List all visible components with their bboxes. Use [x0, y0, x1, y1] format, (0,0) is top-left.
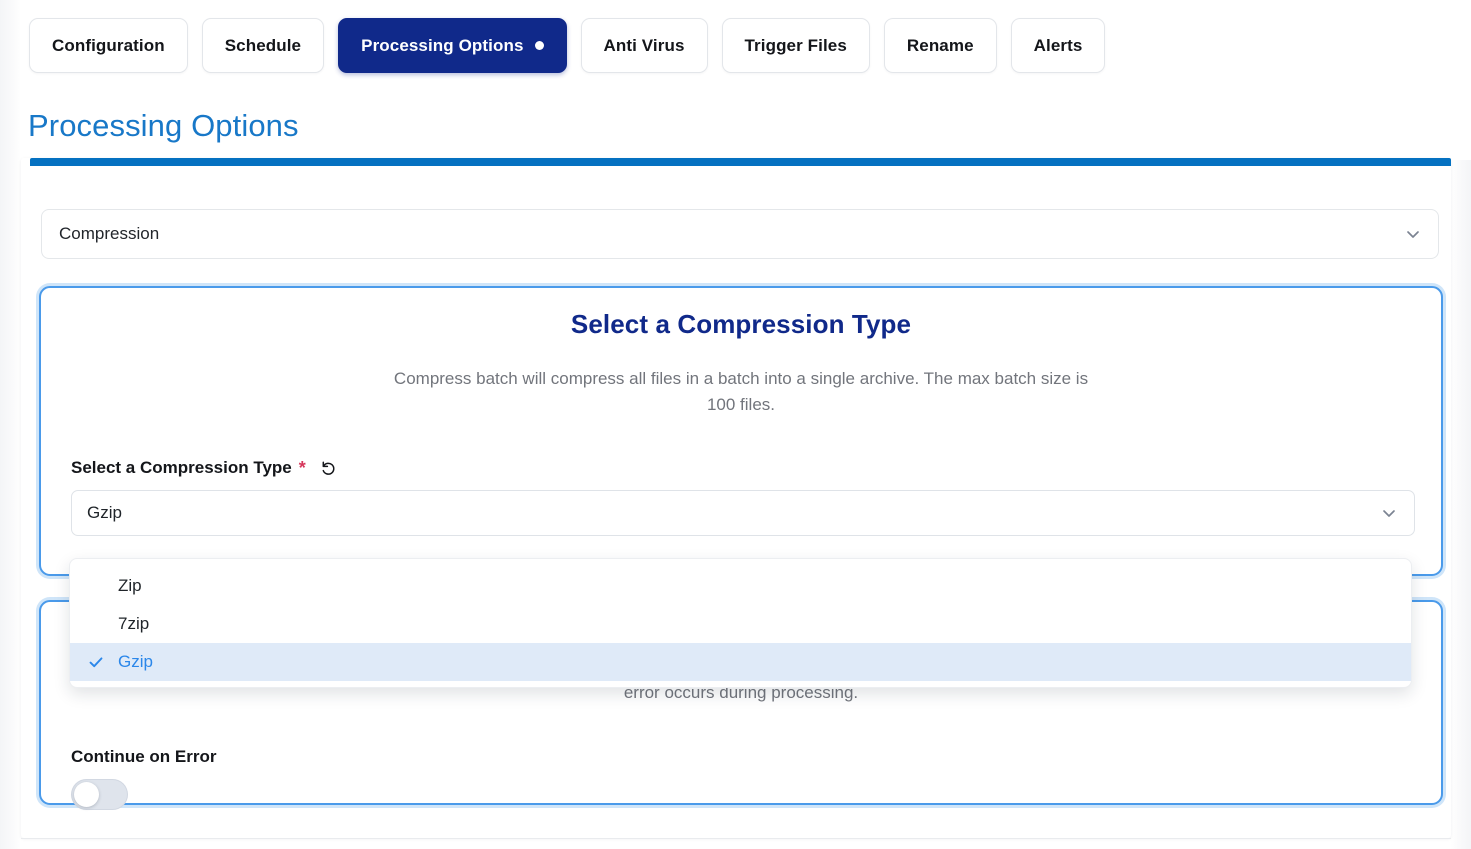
page-title: Processing Options: [28, 108, 299, 144]
tab-alerts[interactable]: Alerts: [1011, 18, 1106, 73]
tab-bar: Configuration Schedule Processing Option…: [29, 18, 1105, 73]
processing-options-screen: Configuration Schedule Processing Option…: [0, 0, 1471, 849]
dropdown-option-zip-label: Zip: [118, 576, 142, 596]
panel-bottom-divider: [21, 838, 1451, 839]
tab-alerts-label: Alerts: [1034, 36, 1083, 56]
chevron-down-icon[interactable]: [1405, 226, 1421, 242]
tab-trigger-files-label: Trigger Files: [745, 36, 847, 56]
tab-processing-options[interactable]: Processing Options: [338, 18, 566, 73]
main-panel: Compression Select a Compression Type Co…: [21, 158, 1451, 838]
tab-anti-virus-label: Anti Virus: [604, 36, 685, 56]
dropdown-option-7zip[interactable]: 7zip: [70, 605, 1411, 643]
tab-anti-virus[interactable]: Anti Virus: [581, 18, 708, 73]
compression-type-card: Select a Compression Type Compress batch…: [39, 286, 1443, 576]
tab-schedule-label: Schedule: [225, 36, 301, 56]
tab-rename-label: Rename: [907, 36, 974, 56]
continue-on-error-toggle[interactable]: [71, 779, 128, 810]
tab-configuration[interactable]: Configuration: [29, 18, 188, 73]
card-title-compression: Select a Compression Type: [41, 309, 1441, 340]
continue-on-error-field: Continue on Error: [71, 747, 216, 810]
toggle-knob: [74, 782, 99, 807]
compression-type-select[interactable]: Gzip: [71, 490, 1415, 536]
tab-configuration-label: Configuration: [52, 36, 165, 56]
chevron-down-icon[interactable]: [1381, 505, 1397, 521]
section-select-compression[interactable]: Compression: [41, 209, 1439, 259]
tab-processing-options-label: Processing Options: [361, 36, 523, 56]
dropdown-option-zip[interactable]: Zip: [70, 567, 1411, 605]
dropdown-option-gzip-label: Gzip: [118, 652, 153, 672]
page-gutter-right: [1451, 160, 1471, 849]
tab-schedule[interactable]: Schedule: [202, 18, 324, 73]
compression-type-field-label: Select a Compression Type: [71, 458, 292, 478]
tab-rename[interactable]: Rename: [884, 18, 997, 73]
dropdown-option-7zip-label: 7zip: [118, 614, 149, 634]
dropdown-option-gzip[interactable]: Gzip: [70, 643, 1411, 681]
check-icon: [88, 654, 104, 670]
compression-type-select-value: Gzip: [87, 503, 122, 523]
card-description-compression: Compress batch will compress all files i…: [391, 366, 1091, 418]
page-gutter-left: [0, 0, 21, 849]
panel-accent-bar: [30, 158, 1451, 166]
compression-type-dropdown-menu: Zip 7zip Gzip: [69, 558, 1412, 688]
reset-icon[interactable]: [320, 460, 337, 477]
section-select-value: Compression: [59, 224, 159, 244]
compression-type-field: Select a Compression Type * Gzip: [71, 458, 1415, 536]
tab-trigger-files[interactable]: Trigger Files: [722, 18, 870, 73]
required-asterisk: *: [299, 459, 306, 477]
tab-active-dot-icon: [535, 41, 544, 50]
compression-type-field-label-row: Select a Compression Type *: [71, 458, 1415, 478]
continue-on-error-label: Continue on Error: [71, 747, 216, 767]
